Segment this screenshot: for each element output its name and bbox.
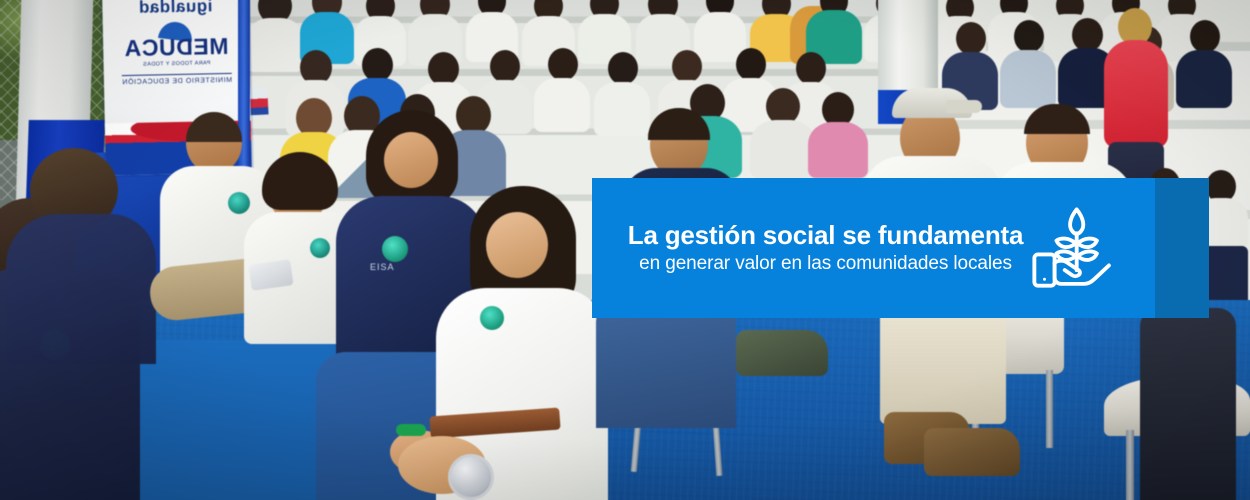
- callout-subheadline: en generar valor en las comunidades loca…: [628, 252, 1023, 276]
- callout-text-block: La gestión social se fundamenta en gener…: [610, 221, 1023, 276]
- callout-headline: La gestión social se fundamenta: [628, 221, 1023, 250]
- screenshot-stage: igualdad MEDUCA PARA TODOS Y TODAS MINIS…: [0, 0, 1250, 500]
- social-management-callout-banner: La gestión social se fundamenta en gener…: [592, 178, 1209, 318]
- hand-holding-plant-icon: [1023, 198, 1123, 298]
- callout-primary-area: La gestión social se fundamenta en gener…: [592, 178, 1155, 318]
- callout-accent-tail: [1155, 178, 1209, 318]
